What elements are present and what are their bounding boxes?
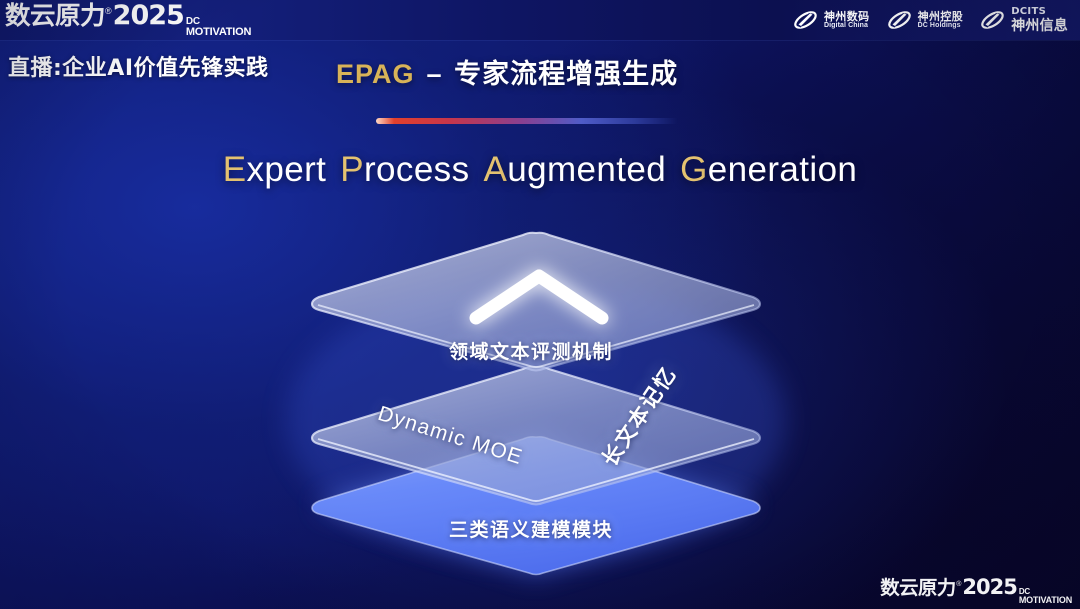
layer-stack-diagram: 领域文本评测机制 Dynamic MOE 长文本记忆 三类语义建模模块 [0,0,1080,609]
layer-label-top: 领域文本评测机制 [449,337,613,364]
footer-watermark-logo: 数云原力 ® 2025 DC MOTIVATION [881,577,1072,605]
footer-brand-tagline: DC MOTIVATION [1019,588,1072,605]
footer-brand-year: 2025 [962,577,1016,598]
footer-brand-motivation: MOTIVATION [1019,596,1072,605]
layer-label-bottom: 三类语义建模模块 [449,515,613,542]
footer-brand-name-cn: 数云原力 [880,579,955,598]
footer-registered-mark: ® [956,581,961,588]
slide-canvas: 数云原力 ® 2025 DC MOTIVATION 神州数码 Digital C… [0,0,1080,609]
chevron-up-icon [466,266,612,328]
